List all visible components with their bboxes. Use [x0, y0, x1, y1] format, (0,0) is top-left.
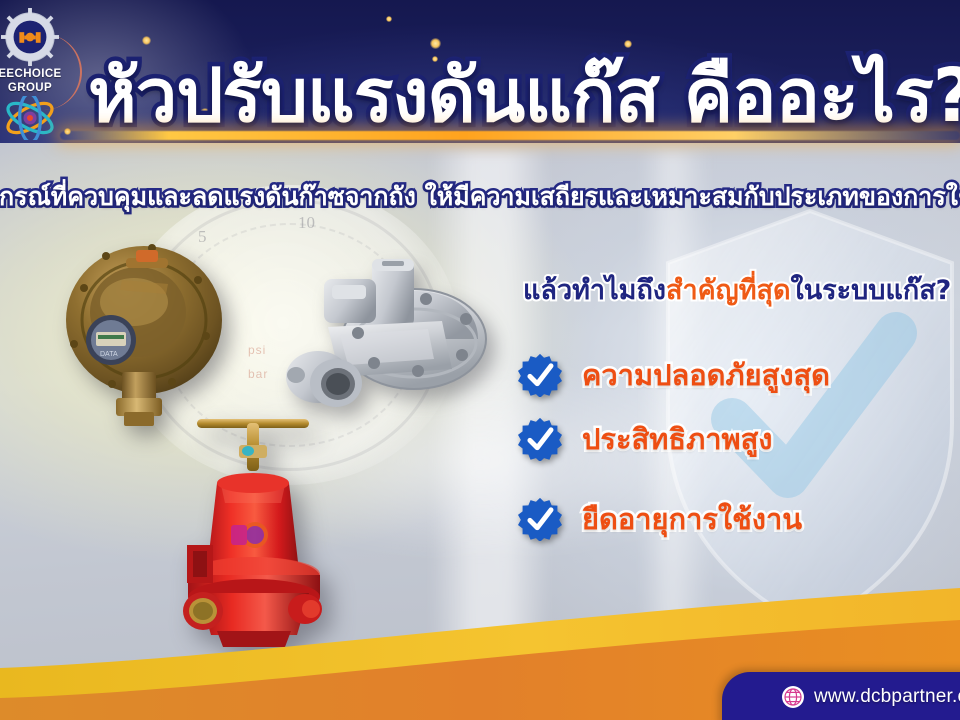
product-image-brass-regulator: DATA: [48, 232, 238, 427]
subtitle-text: …กรณ์ที่ควบคุมและลดแรงดันก๊าซจากถัง ให้ม…: [0, 177, 960, 217]
question-part-2: ในระบบแก๊ส?: [791, 275, 952, 306]
check-badge-icon: [518, 353, 562, 397]
benefit-item[interactable]: ยืดอายุการใช้งาน: [518, 492, 802, 546]
svg-text:DATA: DATA: [100, 351, 118, 358]
check-badge-icon: [518, 497, 562, 541]
question-headline: แล้วทำไมถึงสำคัญที่สุดในระบบแก๊ส?: [523, 268, 951, 311]
question-part-1: แล้วทำไมถึง: [523, 275, 666, 306]
benefit-label: ประสิทธิภาพสูง: [582, 416, 772, 462]
footer-url-panel[interactable]: www.dcbpartner.c…: [722, 672, 960, 720]
sparkle-icon: [386, 16, 392, 22]
check-badge-icon: [518, 417, 562, 461]
page-title: หัวปรับแรงดันแก๊ส คืออะไร?: [88, 36, 960, 143]
gold-divider: [60, 131, 960, 140]
benefit-label: ยืดอายุการใช้งาน: [582, 496, 802, 542]
question-highlight: สำคัญที่สุด: [666, 275, 791, 306]
globe-icon: [782, 686, 804, 708]
benefit-label: ความปลอดภัยสูงสุด: [582, 352, 830, 398]
benefit-item[interactable]: ความปลอดภัยสูงสุด: [518, 348, 830, 402]
product-image-silver-regulator: [266, 243, 498, 423]
poster-root: 0 5 10 15 psi bar: [0, 0, 960, 720]
header-band: EECHOICE GROUP หัวปรับแรงดันแก๊ส คืออะไร…: [0, 0, 960, 143]
brand-logo[interactable]: EECHOICE GROUP: [0, 8, 82, 140]
benefit-item[interactable]: ประสิทธิภาพสูง: [518, 412, 772, 466]
website-url[interactable]: www.dcbpartner.c…: [814, 686, 960, 708]
gear-icon: [1, 8, 59, 66]
